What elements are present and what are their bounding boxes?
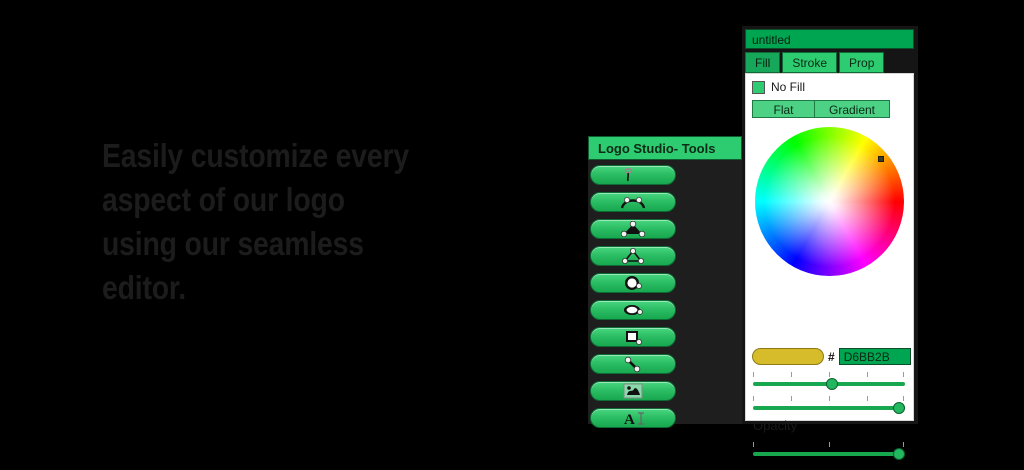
- ellipse-node-icon: [620, 303, 646, 318]
- line-tool[interactable]: [590, 354, 676, 374]
- slider-ticks: [753, 442, 905, 448]
- slider-ticks: [753, 372, 905, 378]
- color-swatch[interactable]: [752, 348, 824, 365]
- arc-tool[interactable]: [590, 192, 676, 212]
- saturation-slider[interactable]: [753, 372, 905, 394]
- logo-studio-tools-panel: Logo Studio- Tools: [588, 136, 742, 424]
- brightness-slider[interactable]: [753, 396, 905, 418]
- color-wheel[interactable]: [755, 127, 904, 276]
- tools-panel-title: Logo Studio- Tools: [588, 136, 742, 160]
- triangle-tool[interactable]: [590, 219, 676, 239]
- circle-tool[interactable]: [590, 273, 676, 293]
- triangle-node-open-icon: [619, 248, 647, 264]
- slider-thumb[interactable]: [893, 448, 905, 460]
- text-tool[interactable]: A: [590, 408, 676, 428]
- slider-track: [753, 452, 905, 456]
- color-wheel-wrap: [752, 124, 907, 279]
- no-fill-row[interactable]: No Fill: [752, 80, 805, 94]
- flat-button[interactable]: Flat: [752, 100, 815, 118]
- slider-thumb[interactable]: [826, 378, 838, 390]
- hash-label: #: [828, 350, 835, 364]
- color-wheel-marker[interactable]: [878, 156, 884, 162]
- opacity-label: Opacity: [753, 418, 797, 433]
- square-node-icon: [621, 329, 645, 346]
- ellipse-tool[interactable]: [590, 300, 676, 320]
- arc-node-icon: [618, 195, 648, 210]
- svg-text:A: A: [624, 412, 635, 426]
- page-headline: Easily customize every aspect of our log…: [102, 134, 446, 310]
- line-node-icon: [620, 356, 646, 373]
- slider-track: [753, 406, 905, 410]
- pen-icon: [620, 167, 646, 183]
- color-value-row: # D6BB2B: [752, 348, 911, 365]
- opacity-slider[interactable]: [753, 442, 905, 464]
- text-a-icon: A: [620, 410, 646, 426]
- tools-list: A: [590, 165, 678, 435]
- slider-ticks: [753, 396, 905, 402]
- circle-node-icon: [620, 275, 646, 292]
- panel-tabs: Fill Stroke Prop: [745, 52, 884, 73]
- polygon-tool[interactable]: [590, 246, 676, 266]
- pen-tool[interactable]: [590, 165, 676, 185]
- fill-mode-group: Flat Gradient: [752, 100, 890, 118]
- no-fill-checkbox[interactable]: [752, 81, 765, 94]
- slider-thumb[interactable]: [893, 402, 905, 414]
- properties-panel: untitled Fill Stroke Prop No Fill Flat G…: [742, 26, 918, 424]
- image-icon: [621, 382, 645, 400]
- triangle-node-filled-icon: [619, 221, 647, 237]
- no-fill-label: No Fill: [771, 80, 805, 94]
- document-title-field[interactable]: untitled: [745, 29, 914, 49]
- image-tool[interactable]: [590, 381, 676, 401]
- rectangle-tool[interactable]: [590, 327, 676, 347]
- tab-stroke[interactable]: Stroke: [782, 52, 837, 73]
- tab-prop[interactable]: Prop: [839, 52, 884, 73]
- hex-input[interactable]: D6BB2B: [839, 348, 911, 365]
- gradient-button[interactable]: Gradient: [815, 100, 890, 118]
- fill-panel-body: No Fill Flat Gradient # D6BB2B: [745, 73, 914, 421]
- tab-fill[interactable]: Fill: [745, 52, 780, 73]
